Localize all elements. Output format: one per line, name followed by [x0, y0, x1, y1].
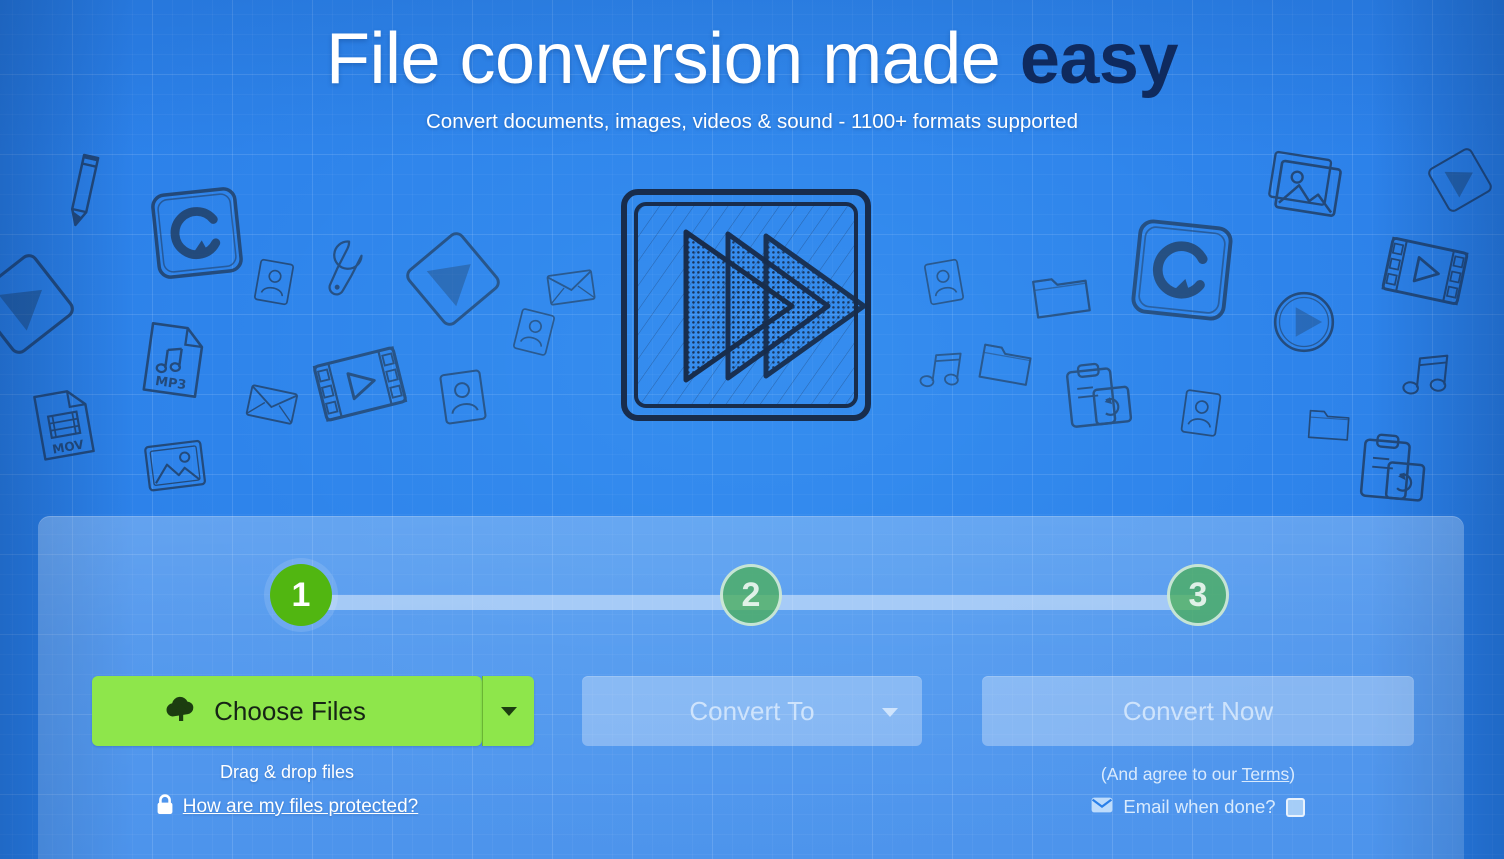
choose-files-button[interactable]: Choose Files — [92, 676, 482, 746]
page-title-accent: easy — [1020, 19, 1178, 99]
drag-drop-hint: Drag & drop files — [92, 762, 482, 783]
step-1-number: 1 — [292, 578, 311, 612]
email-when-done-checkbox[interactable] — [1286, 798, 1305, 817]
page-root: MP3 MOV — [0, 0, 1504, 859]
terms-prefix: (And agree to our — [1101, 764, 1242, 784]
terms-agreement-text: (And agree to our Terms) — [982, 764, 1414, 785]
files-protected-row[interactable]: How are my files protected? — [92, 794, 482, 820]
choose-files-dropdown-button[interactable] — [482, 676, 534, 746]
page-subtitle: Convert documents, images, videos & soun… — [0, 110, 1504, 134]
convert-to-button[interactable]: Convert To — [582, 676, 922, 746]
step-3-indicator[interactable]: 3 — [1167, 564, 1229, 626]
terms-link[interactable]: Terms — [1242, 764, 1290, 784]
envelope-icon — [1091, 797, 1113, 818]
lock-icon — [156, 794, 174, 820]
page-title: File conversion made easy — [0, 22, 1504, 98]
cloud-upload-icon — [164, 694, 198, 729]
converter-card: 1 2 3 Choose Files — [38, 516, 1464, 859]
step-2-number: 2 — [742, 578, 761, 612]
hero-section: File conversion made easy Convert docume… — [0, 0, 1504, 134]
convert-to-label: Convert To — [689, 696, 814, 727]
step-2-indicator[interactable]: 2 — [720, 564, 782, 626]
card-footer-notes: Drag & drop files How are my files prote… — [38, 762, 1464, 852]
convert-now-label: Convert Now — [1123, 696, 1273, 727]
files-protected-link[interactable]: How are my files protected? — [183, 796, 419, 818]
chevron-down-icon — [882, 708, 898, 717]
fast-forward-sketch-icon — [612, 176, 880, 444]
action-buttons-row: Choose Files Convert To Convert Now — [38, 676, 1464, 752]
terms-suffix: ) — [1289, 764, 1295, 784]
step-3-number: 3 — [1189, 578, 1208, 612]
chevron-down-icon — [501, 707, 517, 716]
choose-files-label: Choose Files — [214, 696, 366, 727]
step-indicator: 1 2 3 — [38, 564, 1464, 632]
email-when-done-row[interactable]: Email when done? — [982, 796, 1414, 818]
email-when-done-label: Email when done? — [1123, 796, 1275, 818]
convert-now-button[interactable]: Convert Now — [982, 676, 1414, 746]
page-title-main: File conversion made — [326, 19, 1000, 99]
step-1-indicator[interactable]: 1 — [270, 564, 332, 626]
